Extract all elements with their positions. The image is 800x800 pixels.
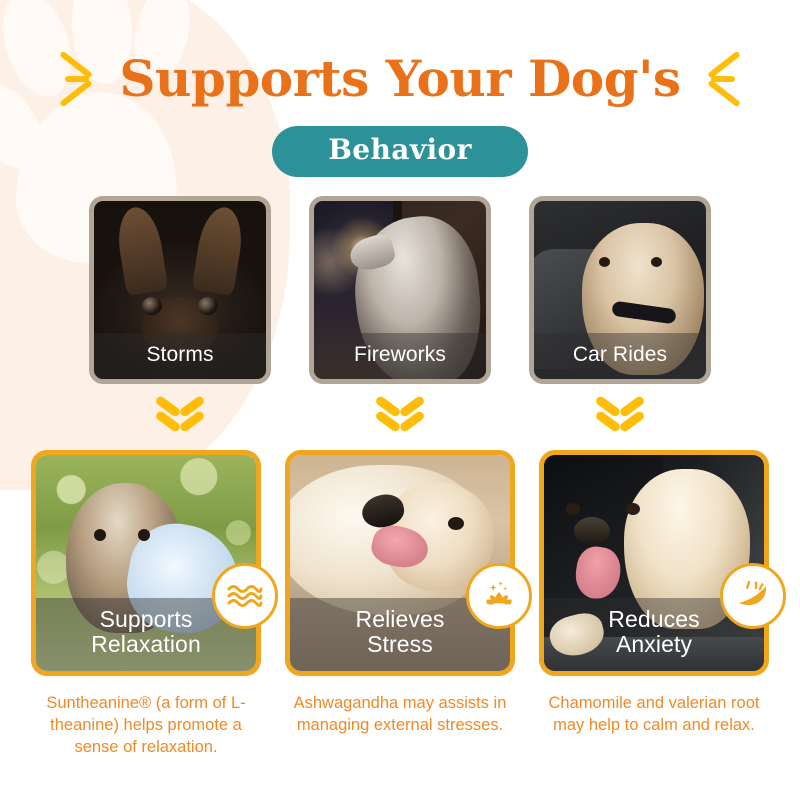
calm-leaf-rays-icon xyxy=(720,563,786,629)
trigger-label: Fireworks xyxy=(314,333,486,379)
benefit-caption: Ashwagandha may assists in managing exte… xyxy=(285,692,515,758)
trigger-card-storms: Storms xyxy=(89,196,271,384)
captions-row: Suntheanine® (a form of L-theanine) help… xyxy=(0,692,800,758)
subtitle-badge-wrap: Behavior xyxy=(0,126,800,177)
double-chevron-down-icon xyxy=(377,392,423,432)
trigger-card-car-rides: Car Rides xyxy=(529,196,711,384)
waves-icon xyxy=(212,563,278,629)
sparkle-lines-right-icon xyxy=(695,42,741,116)
benefit-caption: Chamomile and valerian root may help to … xyxy=(539,692,769,758)
lotus-sparkle-icon xyxy=(466,563,532,629)
arrow-slot xyxy=(529,392,711,432)
sparkle-lines-left-icon xyxy=(59,42,105,116)
arrow-slot xyxy=(309,392,491,432)
benefit-label-line2: Stress xyxy=(294,632,506,658)
trigger-label: Car Rides xyxy=(534,333,706,379)
page-title: Supports Your Dog's xyxy=(119,53,680,106)
trigger-card-fireworks: Fireworks xyxy=(309,196,491,384)
arrows-row xyxy=(0,392,800,432)
benefit-label-line2: Relaxation xyxy=(40,632,252,658)
infographic-canvas: Supports Your Dog's Behavior Storms xyxy=(0,0,800,800)
benefit-card-relieves-stress: Relieves Stress xyxy=(285,450,515,676)
triggers-row: Storms Fireworks xyxy=(0,196,800,384)
subtitle-badge: Behavior xyxy=(272,126,528,177)
benefit-card-reduces-anxiety: Reduces Anxiety xyxy=(539,450,769,676)
arrow-slot xyxy=(89,392,271,432)
benefit-card-supports-relaxation: Supports Relaxation xyxy=(31,450,261,676)
benefit-caption: Suntheanine® (a form of L-theanine) help… xyxy=(31,692,261,758)
benefits-row: Supports Relaxation xyxy=(0,450,800,676)
double-chevron-down-icon xyxy=(597,392,643,432)
trigger-label: Storms xyxy=(94,333,266,379)
header: Supports Your Dog's xyxy=(0,42,800,116)
double-chevron-down-icon xyxy=(157,392,203,432)
